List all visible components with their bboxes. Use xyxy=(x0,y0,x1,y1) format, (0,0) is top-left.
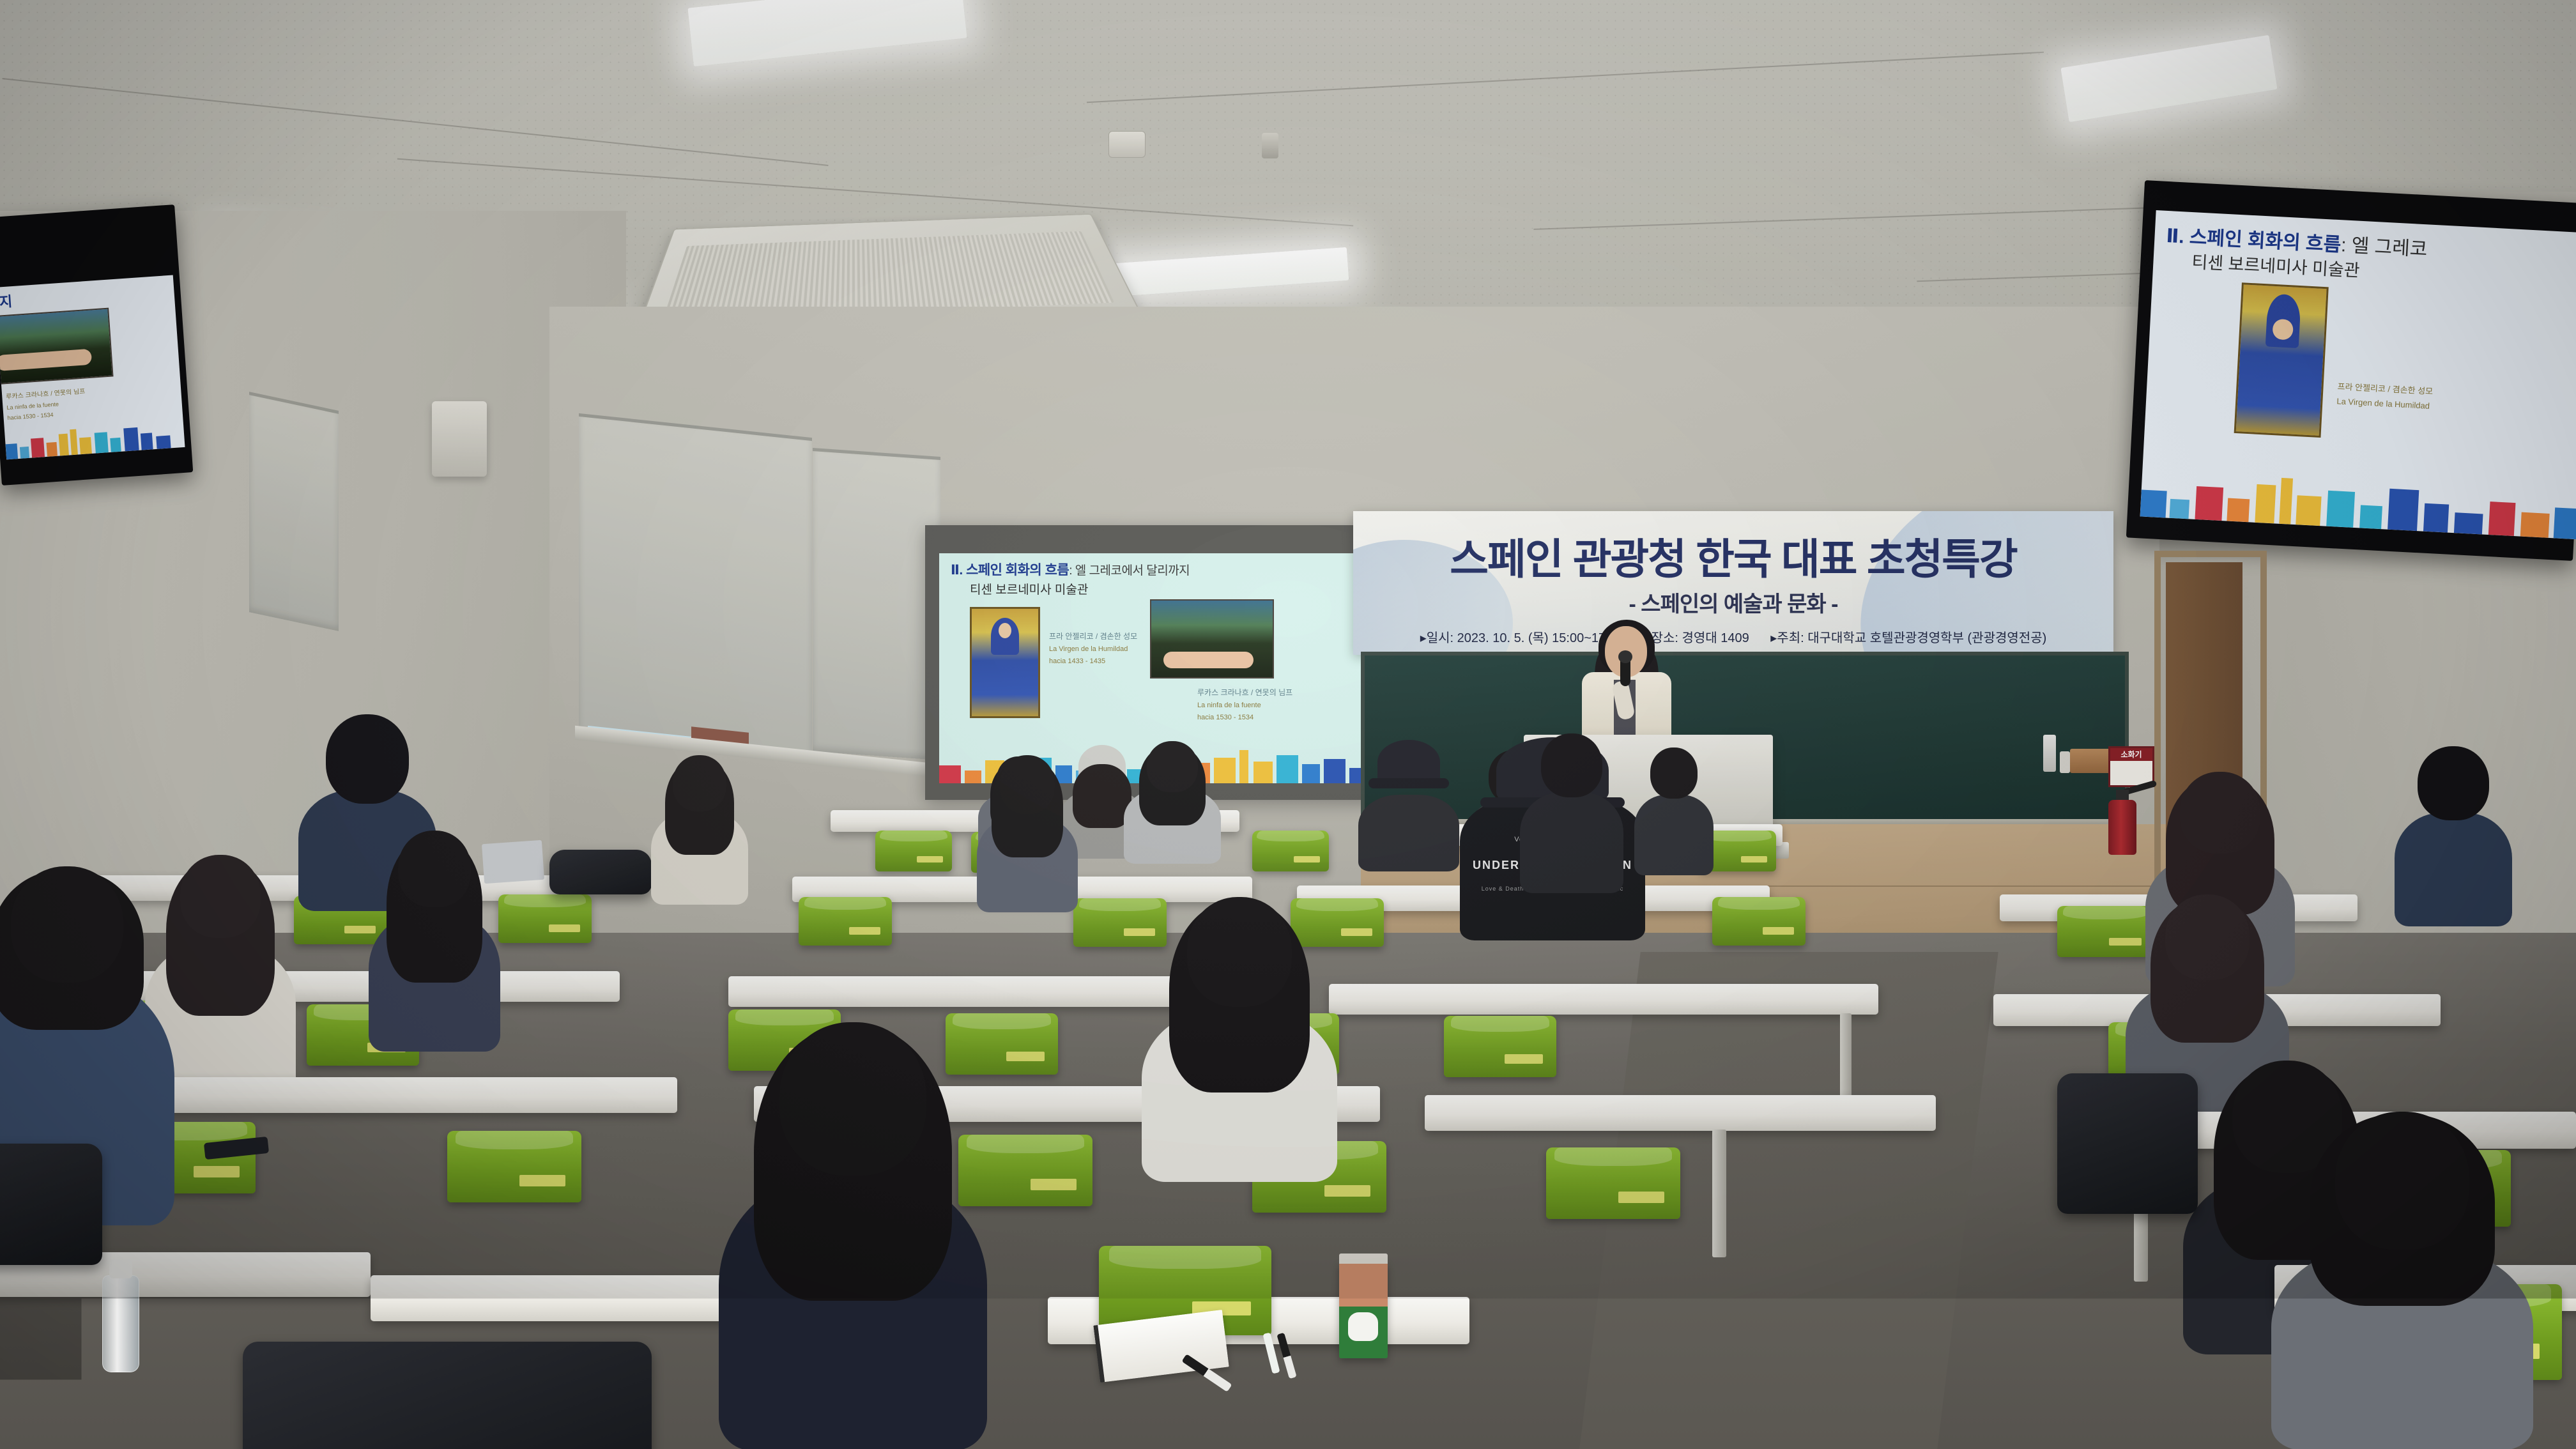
chair[interactable] xyxy=(875,831,952,871)
banner-info: ▸일시: 2023. 10. 5. (목) 15:00~17:00 ▸장소: 경… xyxy=(1353,627,2113,646)
tv-right-slide: Ⅱ. 스페인 회화의 흐름: 엘 그레코 티센 보르네미사 미술관 프라 안젤리… xyxy=(2140,210,2576,539)
student xyxy=(1636,747,1712,875)
desk xyxy=(1329,984,1878,1015)
fire-extinguisher xyxy=(2108,800,2136,855)
tv-left-slide: 지 루카스 크라나흐 / 연못의 님프 La ninfa de la fuent… xyxy=(0,275,185,459)
student-foreground xyxy=(2274,1112,2530,1449)
microphone xyxy=(1620,657,1630,686)
student-foreground xyxy=(722,1022,984,1449)
slide-artwork-ninfa xyxy=(1150,599,1274,678)
tv-monitor-right: Ⅱ. 스페인 회화의 흐름: 엘 그레코 티센 보르네미사 미술관 프라 안젤리… xyxy=(2126,180,2576,561)
sprinkler-icon xyxy=(1262,133,1278,158)
skyline-graphic xyxy=(4,419,185,459)
caption-es: La Virgen de la Humildad xyxy=(1049,643,1137,655)
smoke-detector-icon xyxy=(1108,131,1146,158)
chair[interactable] xyxy=(1546,1147,1680,1219)
slide-title-rest: : 엘 그레코에서 달리까지 xyxy=(1069,564,1190,578)
backpack-foreground xyxy=(243,1342,652,1449)
slide-subtitle: 티센 보르네미사 미술관 xyxy=(970,580,1088,597)
student xyxy=(1521,733,1623,893)
chair[interactable] xyxy=(1444,1016,1556,1077)
sanitizer-bottle xyxy=(2043,735,2056,772)
desk xyxy=(1425,1095,1936,1131)
skyline-graphic xyxy=(2140,466,2576,539)
student xyxy=(652,754,747,901)
chair[interactable] xyxy=(799,897,892,946)
slide-caption-left: 프라 안젤리코 / 겸손한 성모 La Virgen de la Humilda… xyxy=(1049,630,1137,668)
backpack xyxy=(549,850,652,894)
roller-blind[interactable] xyxy=(249,392,339,631)
chair[interactable] xyxy=(1252,831,1329,871)
tv-monitor-left: 지 루카스 크라나흐 / 연못의 님프 La ninfa de la fuent… xyxy=(0,204,193,486)
caption-kr: 프라 안젤리코 / 겸손한 성모 xyxy=(1049,630,1137,643)
banner-title: 스페인 관광청 한국 대표 초청특강 xyxy=(1353,525,2113,586)
tv-left-artwork xyxy=(0,308,114,385)
classroom-photo-scene: 지 루카스 크라나흐 / 연못의 님프 La ninfa de la fuent… xyxy=(0,0,2576,1449)
student xyxy=(2396,746,2511,925)
slide-artwork-virgen xyxy=(970,607,1040,718)
tv-right-artwork xyxy=(2234,282,2329,438)
roller-blind[interactable] xyxy=(813,448,940,760)
student xyxy=(1144,897,1335,1178)
caption-date: hacia 1433 - 1435 xyxy=(1049,655,1137,668)
tv-right-caption: 프라 안젤리코 / 겸손한 성모 La Virgen de la Humilda… xyxy=(2336,379,2434,413)
water-bottle xyxy=(102,1275,139,1372)
tv-left-title: 지 xyxy=(0,290,13,311)
caption-es: La ninfa de la fuente xyxy=(1197,700,1292,712)
roller-blind[interactable] xyxy=(579,413,812,760)
wall-speaker xyxy=(432,401,487,477)
backpack xyxy=(0,1144,102,1265)
milk-carton xyxy=(1339,1262,1388,1358)
slide-title-main: Ⅱ. 스페인 회화의 흐름 xyxy=(951,563,1069,578)
backpack xyxy=(2057,1073,2198,1214)
cup xyxy=(2060,751,2070,773)
student-with-cap xyxy=(1361,740,1457,868)
banner-subtitle: - 스페인의 예술과 문화 - xyxy=(1353,586,2113,618)
caption-kr: 루카스 크라나흐 / 연못의 님프 xyxy=(1197,686,1292,700)
desk-leg xyxy=(1712,1130,1726,1257)
student xyxy=(371,831,498,1048)
chair[interactable] xyxy=(1712,897,1805,946)
event-banner: 스페인 관광청 한국 대표 초청특강 - 스페인의 예술과 문화 - ▸일시: … xyxy=(1353,511,2113,655)
chair[interactable] xyxy=(447,1131,581,1202)
fire-extinguisher-label: 소화기 xyxy=(2110,748,2152,761)
chair[interactable] xyxy=(498,894,592,943)
caption-date: hacia 1530 - 1534 xyxy=(1197,712,1292,724)
slide-caption-right: 루카스 크라나흐 / 연못의 님프 La ninfa de la fuente … xyxy=(1197,686,1292,724)
student xyxy=(1124,739,1220,860)
slide-title: Ⅱ. 스페인 회화의 흐름: 엘 그레코에서 달리까지 xyxy=(951,560,1190,579)
banner-info-host: ▸주최: 대구대학교 호텔관광경영학부 (관광경영전공) xyxy=(1770,631,2046,645)
student xyxy=(977,755,1077,908)
